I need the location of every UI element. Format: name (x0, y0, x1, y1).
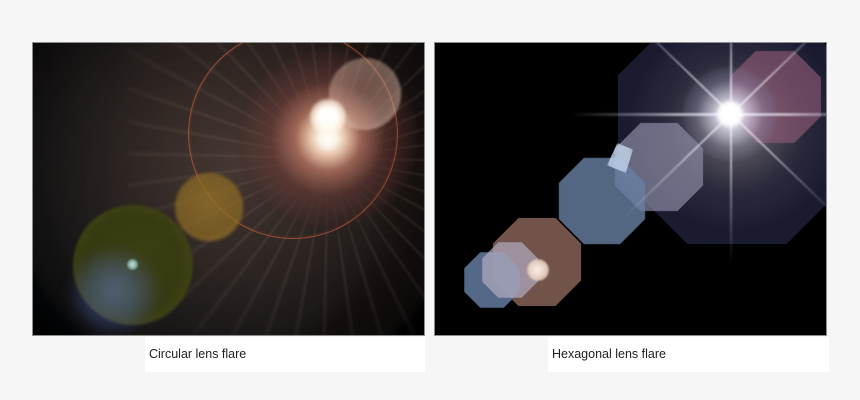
star-glow (683, 67, 777, 161)
figure-hexagonal-lens-flare (434, 42, 827, 336)
sun-glow (238, 48, 418, 228)
rainbow-fringe-arc (32, 161, 335, 336)
star-core (717, 101, 743, 127)
amber-ghost-disc (175, 173, 243, 241)
figure-circular-lens-flare (32, 42, 425, 336)
pink-ghost-octagon (727, 49, 823, 145)
pale-lavender-ghost-octagon (481, 241, 539, 299)
blue-haze-blob (71, 251, 157, 333)
sun-streak-rays (128, 42, 425, 336)
caption-text-circular: Circular lens flare (145, 347, 246, 361)
slate-ghost-octagon (557, 156, 647, 246)
caption-text-hexagonal: Hexagonal lens flare (548, 347, 666, 361)
olive-ghost-disc (73, 205, 193, 325)
terracotta-ghost-octagon (491, 216, 583, 308)
large-faint-octagon (613, 42, 827, 249)
caption-circular-lens-flare: Circular lens flare (145, 337, 425, 372)
peach-ghost-disc (329, 58, 401, 130)
starburst-spikes (730, 114, 731, 115)
caption-hexagonal-lens-flare: Hexagonal lens flare (548, 337, 829, 372)
blue-chip-ghost (607, 143, 633, 173)
circular-flare-canvas (32, 42, 425, 336)
hexagonal-flare-canvas (434, 42, 827, 336)
page-root: Circular lens flare Hexagonal lens flare (0, 0, 860, 400)
cool-haze (32, 42, 393, 336)
lavender-ghost-octagon (613, 121, 705, 213)
small-slate-ghost-octagon (463, 251, 521, 309)
warm-halo (32, 42, 425, 336)
ghost-ring (188, 42, 398, 239)
sun-core (310, 99, 346, 135)
teal-center-dot (127, 259, 138, 270)
star-halo (635, 42, 827, 225)
bright-ghost-dot (527, 259, 549, 281)
